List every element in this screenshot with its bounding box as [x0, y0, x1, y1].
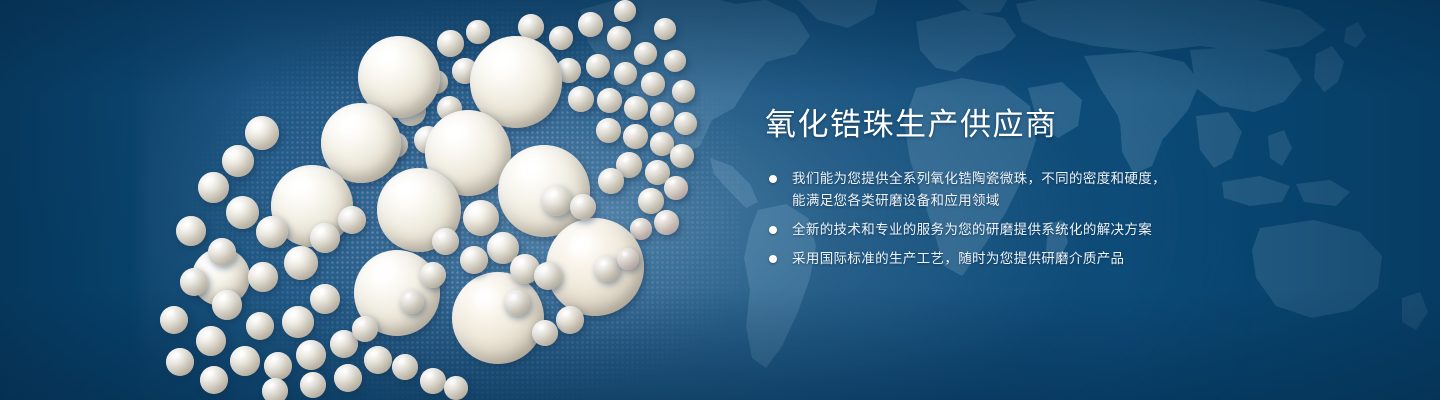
- bullet-dot-icon: [769, 175, 777, 183]
- bullet-dot-icon: [769, 226, 777, 234]
- bullet-dot-icon: [769, 255, 777, 263]
- banner-feature-list: 我们能为您提供全系列氧化锆陶瓷微珠，不同的密度和硬度， 能满足您各类研磨设备和应…: [765, 168, 1235, 270]
- bullet-text-line1: 我们能为您提供全系列氧化锆陶瓷微珠，不同的密度和硬度，: [792, 171, 1166, 186]
- hero-banner: 氧化锆珠生产供应商 我们能为您提供全系列氧化锆陶瓷微珠，不同的密度和硬度， 能满…: [0, 0, 1440, 400]
- bullet-text-line1: 全新的技术和专业的服务为您的研磨提供系统化的解决方案: [792, 222, 1152, 237]
- list-item: 我们能为您提供全系列氧化锆陶瓷微珠，不同的密度和硬度， 能满足您各类研磨设备和应…: [765, 168, 1235, 212]
- list-item: 采用国际标准的生产工艺，随时为您提供研磨介质产品: [765, 248, 1235, 270]
- bullet-text-line1: 采用国际标准的生产工艺，随时为您提供研磨介质产品: [792, 251, 1124, 266]
- banner-headline: 氧化锆珠生产供应商: [765, 106, 1235, 144]
- list-item: 全新的技术和专业的服务为您的研磨提供系统化的解决方案: [765, 219, 1235, 241]
- banner-content: 氧化锆珠生产供应商 我们能为您提供全系列氧化锆陶瓷微珠，不同的密度和硬度， 能满…: [765, 106, 1235, 270]
- bullet-text-line2: 能满足您各类研磨设备和应用领域: [792, 190, 1235, 212]
